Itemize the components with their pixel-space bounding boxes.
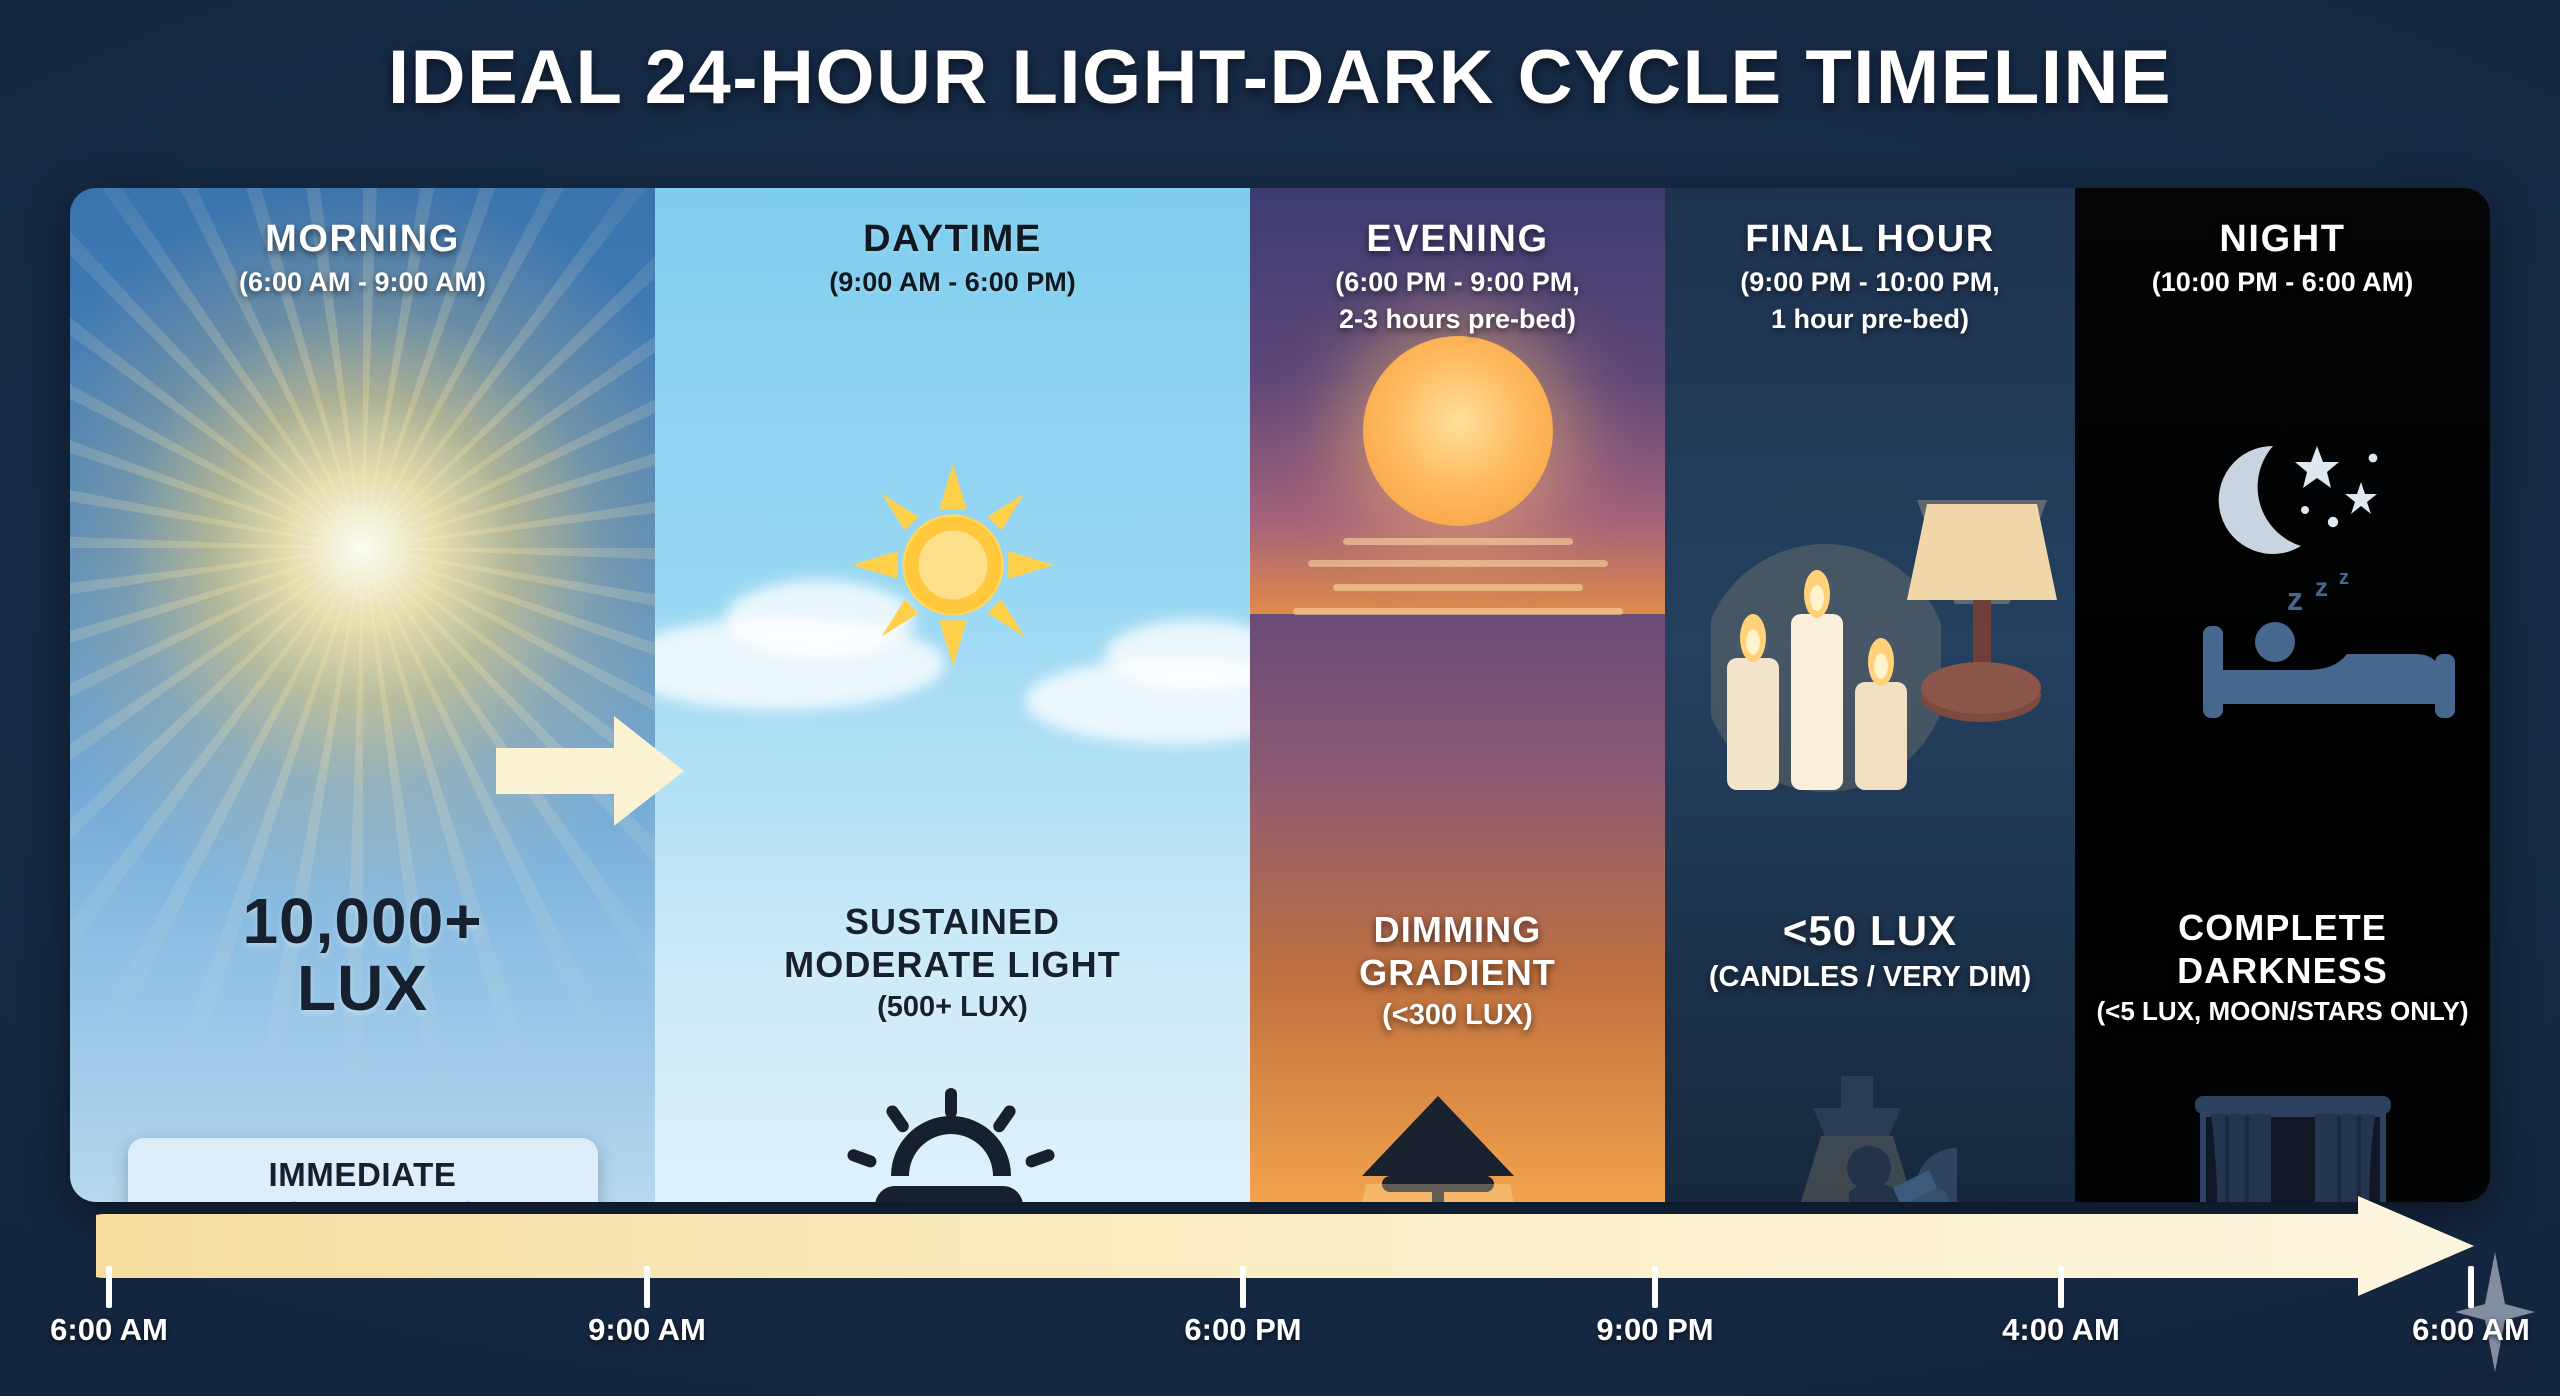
lux-meter-icon: 500+ bbox=[843, 1084, 1063, 1202]
panel-morning-time-range: (6:00 AM - 9:00 AM) bbox=[70, 266, 655, 299]
panel-evening-time-range-2: 2-3 hours pre-bed) bbox=[1250, 303, 1665, 336]
night-value-line1: COMPLETE bbox=[2075, 906, 2490, 949]
timeline-panel-board: MORNING (6:00 AM - 9:00 AM) 10,000+ LUX … bbox=[70, 188, 2490, 1202]
panel-evening-header: EVENING (6:00 PM - 9:00 PM, 2-3 hours pr… bbox=[1250, 218, 1665, 336]
right-arrow-icon bbox=[496, 712, 686, 835]
person-reading-icon bbox=[1725, 1068, 2025, 1202]
daytime-value-line1: SUSTAINED bbox=[655, 900, 1250, 943]
timeline-tick bbox=[2468, 1266, 2474, 1308]
panel-final-hour-value: <50 LUX (CANDLES / VERY DIM) bbox=[1665, 906, 2075, 995]
night-value-line2: DARKNESS bbox=[2075, 949, 2490, 992]
water-ripple bbox=[1343, 538, 1573, 545]
panel-night-value: COMPLETE DARKNESS (<5 LUX, MOON/STARS ON… bbox=[2075, 906, 2490, 1028]
timeline-tick bbox=[1240, 1266, 1246, 1308]
timeline-label-3: 9:00 PM bbox=[1596, 1312, 1713, 1348]
table-lamp-icon bbox=[1338, 1088, 1538, 1202]
water-ripple bbox=[1308, 560, 1608, 567]
timeline-ticks bbox=[0, 1266, 2560, 1312]
timeline-tick bbox=[2058, 1266, 2064, 1308]
morning-callout-line1: IMMEDIATE bbox=[148, 1156, 578, 1195]
evening-value-line1: DIMMING bbox=[1250, 908, 1665, 951]
panel-night-time-range: (10:00 PM - 6:00 AM) bbox=[2075, 266, 2490, 299]
panel-morning[interactable]: MORNING (6:00 AM - 9:00 AM) 10,000+ LUX … bbox=[70, 188, 655, 1202]
panel-daytime-header: DAYTIME (9:00 AM - 6:00 PM) bbox=[655, 218, 1250, 298]
sunset-icon bbox=[1363, 336, 1553, 526]
panel-daytime-time-range: (9:00 AM - 6:00 PM) bbox=[655, 266, 1250, 299]
panel-morning-value: 10,000+ LUX bbox=[70, 888, 655, 1022]
final-hour-lux-note: (CANDLES / VERY DIM) bbox=[1665, 960, 2075, 995]
panel-night-heading: NIGHT bbox=[2075, 218, 2490, 261]
morning-lux-value: 10,000+ bbox=[70, 888, 655, 955]
panel-morning-header: MORNING (6:00 AM - 9:00 AM) bbox=[70, 218, 655, 298]
panel-daytime[interactable]: DAYTIME (9:00 AM - 6:00 PM) bbox=[655, 188, 1250, 1202]
svg-text:z: z bbox=[2339, 567, 2349, 589]
morning-lux-unit: LUX bbox=[70, 955, 655, 1022]
panel-morning-heading: MORNING bbox=[70, 218, 655, 261]
final-hour-lux-value: <50 LUX bbox=[1665, 906, 2075, 956]
daytime-value-line3: (500+ LUX) bbox=[655, 990, 1250, 1025]
panel-final-hour-time-range-1: (9:00 PM - 10:00 PM, bbox=[1665, 266, 2075, 299]
sleeping-person-bed-icon: z z z bbox=[2195, 566, 2465, 731]
moon-stars-icon bbox=[2193, 434, 2393, 579]
timeline-label-5: 6:00 AM bbox=[2412, 1312, 2530, 1348]
svg-text:z: z bbox=[2315, 572, 2328, 602]
timeline-label-0: 6:00 AM bbox=[50, 1312, 168, 1348]
panel-evening-heading: EVENING bbox=[1250, 218, 1665, 261]
panel-final-hour[interactable]: FINAL HOUR (9:00 PM - 10:00 PM, 1 hour p… bbox=[1665, 188, 2075, 1202]
panel-night[interactable]: NIGHT (10:00 PM - 6:00 AM) z z bbox=[2075, 188, 2490, 1202]
page-title: IDEAL 24-HOUR LIGHT-DARK CYCLE TIMELINE bbox=[0, 34, 2560, 121]
timeline-labels: 6:00 AM 9:00 AM 6:00 PM 9:00 PM 4:00 AM … bbox=[0, 1312, 2560, 1372]
panel-evening-time-range-1: (6:00 PM - 9:00 PM, bbox=[1250, 266, 1665, 299]
evening-value-line2: GRADIENT bbox=[1250, 951, 1665, 994]
panel-final-hour-header: FINAL HOUR (9:00 PM - 10:00 PM, 1 hour p… bbox=[1665, 218, 2075, 336]
panel-final-hour-heading: FINAL HOUR bbox=[1665, 218, 2075, 261]
water-ripple bbox=[1293, 608, 1623, 615]
sun-icon bbox=[838, 450, 1068, 685]
panel-night-header: NIGHT (10:00 PM - 6:00 AM) bbox=[2075, 218, 2490, 298]
night-value-line3: (<5 LUX, MOON/STARS ONLY) bbox=[2075, 996, 2490, 1027]
panel-daytime-heading: DAYTIME bbox=[655, 218, 1250, 261]
bedside-lamp-icon bbox=[1887, 484, 2075, 739]
timeline-tick bbox=[644, 1266, 650, 1308]
water-ripple bbox=[1333, 584, 1583, 591]
panel-evening-value: DIMMING GRADIENT (<300 LUX) bbox=[1250, 908, 1665, 1033]
svg-text:z: z bbox=[2287, 581, 2303, 617]
evening-value-line3: (<300 LUX) bbox=[1250, 998, 1665, 1033]
blackout-curtains-icon bbox=[2183, 1088, 2403, 1202]
timeline-label-2: 6:00 PM bbox=[1184, 1312, 1301, 1348]
timeline-label-4: 4:00 AM bbox=[2002, 1312, 2120, 1348]
sunburst-rays-icon bbox=[70, 188, 655, 1173]
timeline-tick bbox=[106, 1266, 112, 1308]
panel-evening[interactable]: EVENING (6:00 PM - 9:00 PM, 2-3 hours pr… bbox=[1250, 188, 1665, 1202]
morning-callout-box: IMMEDIATE UPON WAKING. Natural Sunlight … bbox=[128, 1138, 598, 1202]
panel-final-hour-time-range-2: 1 hour pre-bed) bbox=[1665, 303, 2075, 336]
timeline-label-1: 9:00 AM bbox=[588, 1312, 706, 1348]
sunburst-icon bbox=[70, 188, 655, 998]
timeline-tick bbox=[1652, 1266, 1658, 1308]
daytime-value-line2: MODERATE LIGHT bbox=[655, 943, 1250, 986]
panel-daytime-value: SUSTAINED MODERATE LIGHT (500+ LUX) bbox=[655, 900, 1250, 1025]
